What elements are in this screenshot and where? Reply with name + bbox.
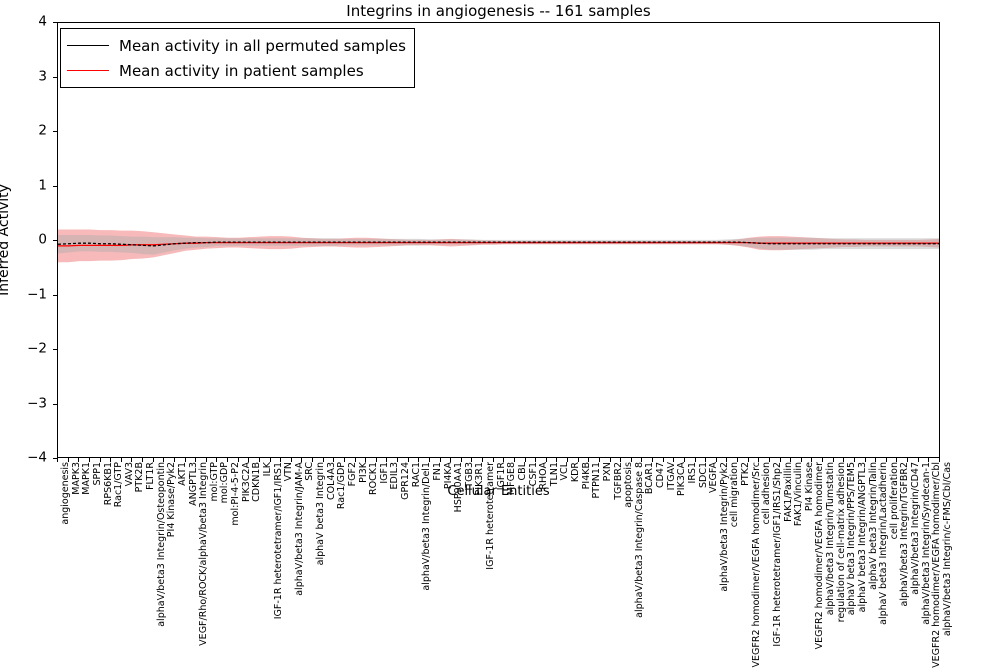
y-tick-label: 1 [38,179,47,193]
y-tick-label: 3 [38,70,47,84]
y-tick-label: −1 [27,288,47,302]
y-tick-label: −3 [27,397,47,411]
y-tick-label: −2 [27,342,47,356]
x-tick-label: PTK2 [741,462,751,486]
x-tick-label: FGF2 [348,462,358,486]
x-tick-label: CBL [518,462,528,480]
x-tick-label: IRS1 [688,462,698,483]
x-tick-label: VAV3 [125,462,135,486]
x-tick-label: SRC [305,462,315,481]
x-tick-label: SPP1 [93,462,103,486]
y-tick-mark [53,349,57,350]
x-tick-label: alphaV beta3 Integrin/Talin [869,462,879,590]
x-tick-label: alphaV beta3 Integrin [316,462,326,565]
x-tick-label: alphaV/beta3 Integrin/Pyk2 [720,462,730,592]
x-tick-label: alphaV/beta3 Integrin/JAM-A [295,462,305,596]
x-tick-label: FN1 [433,462,443,481]
x-tick-label: VCL [560,462,570,480]
x-tick-label: alphaV/beta3 Integrin/c-FMS/Cbl/Cas [943,462,953,636]
y-tick-mark [53,240,57,241]
y-tick-label: 2 [38,124,47,138]
x-tick-label: TLN1 [550,462,560,486]
legend-item-permuted: Mean activity in all permuted samples [67,33,406,58]
y-tick-label: 4 [38,15,47,29]
y-tick-mark [53,458,57,459]
x-tick-label: IGF-1R heterotetramer [486,462,496,570]
legend-label-permuted: Mean activity in all permuted samples [119,37,406,55]
x-tick-label: PI3K [359,462,369,483]
y-axis-tick-labels: −4−3−2−101234 [0,22,53,458]
x-tick-label: KDR [571,462,581,482]
x-tick-label: PXN [603,462,613,481]
x-tick-label: cell proliferation [890,462,900,539]
legend: Mean activity in all permuted samples Me… [60,28,415,88]
x-tick-label: CSF1 [529,462,539,486]
permuted-band [58,235,940,255]
x-tick-label: alphaV/beta3 Integrin/CD47 [911,462,921,595]
y-tick-mark [53,131,57,132]
y-tick-label: 0 [38,233,47,247]
y-tick-mark [53,77,57,78]
x-tick-mark [57,458,58,462]
x-tick-label: ILK [263,462,273,476]
y-tick-label: −4 [27,451,47,465]
data-layer [58,23,940,458]
y-tick-mark [53,186,57,187]
x-tick-label: VTN [284,462,294,481]
chart-title: Integrins in angiogenesis -- 161 samples [57,2,940,20]
y-tick-mark [53,295,57,296]
legend-swatch-permuted [67,45,109,46]
x-tick-label: IGF1 [380,462,390,484]
y-tick-mark [53,22,57,23]
y-tick-mark [53,404,57,405]
x-tick-label: AKT1 [178,462,188,486]
x-axis-label: Cellular Entities [57,484,940,499]
legend-swatch-patient [67,70,109,71]
x-tick-label: alphaV/beta3 Integrin/Del1 [422,462,432,591]
legend-label-patient: Mean activity in patient samples [119,62,364,80]
figure: Integrins in angiogenesis -- 161 samples… [0,0,1000,500]
legend-item-patient: Mean activity in patient samples [67,58,406,83]
